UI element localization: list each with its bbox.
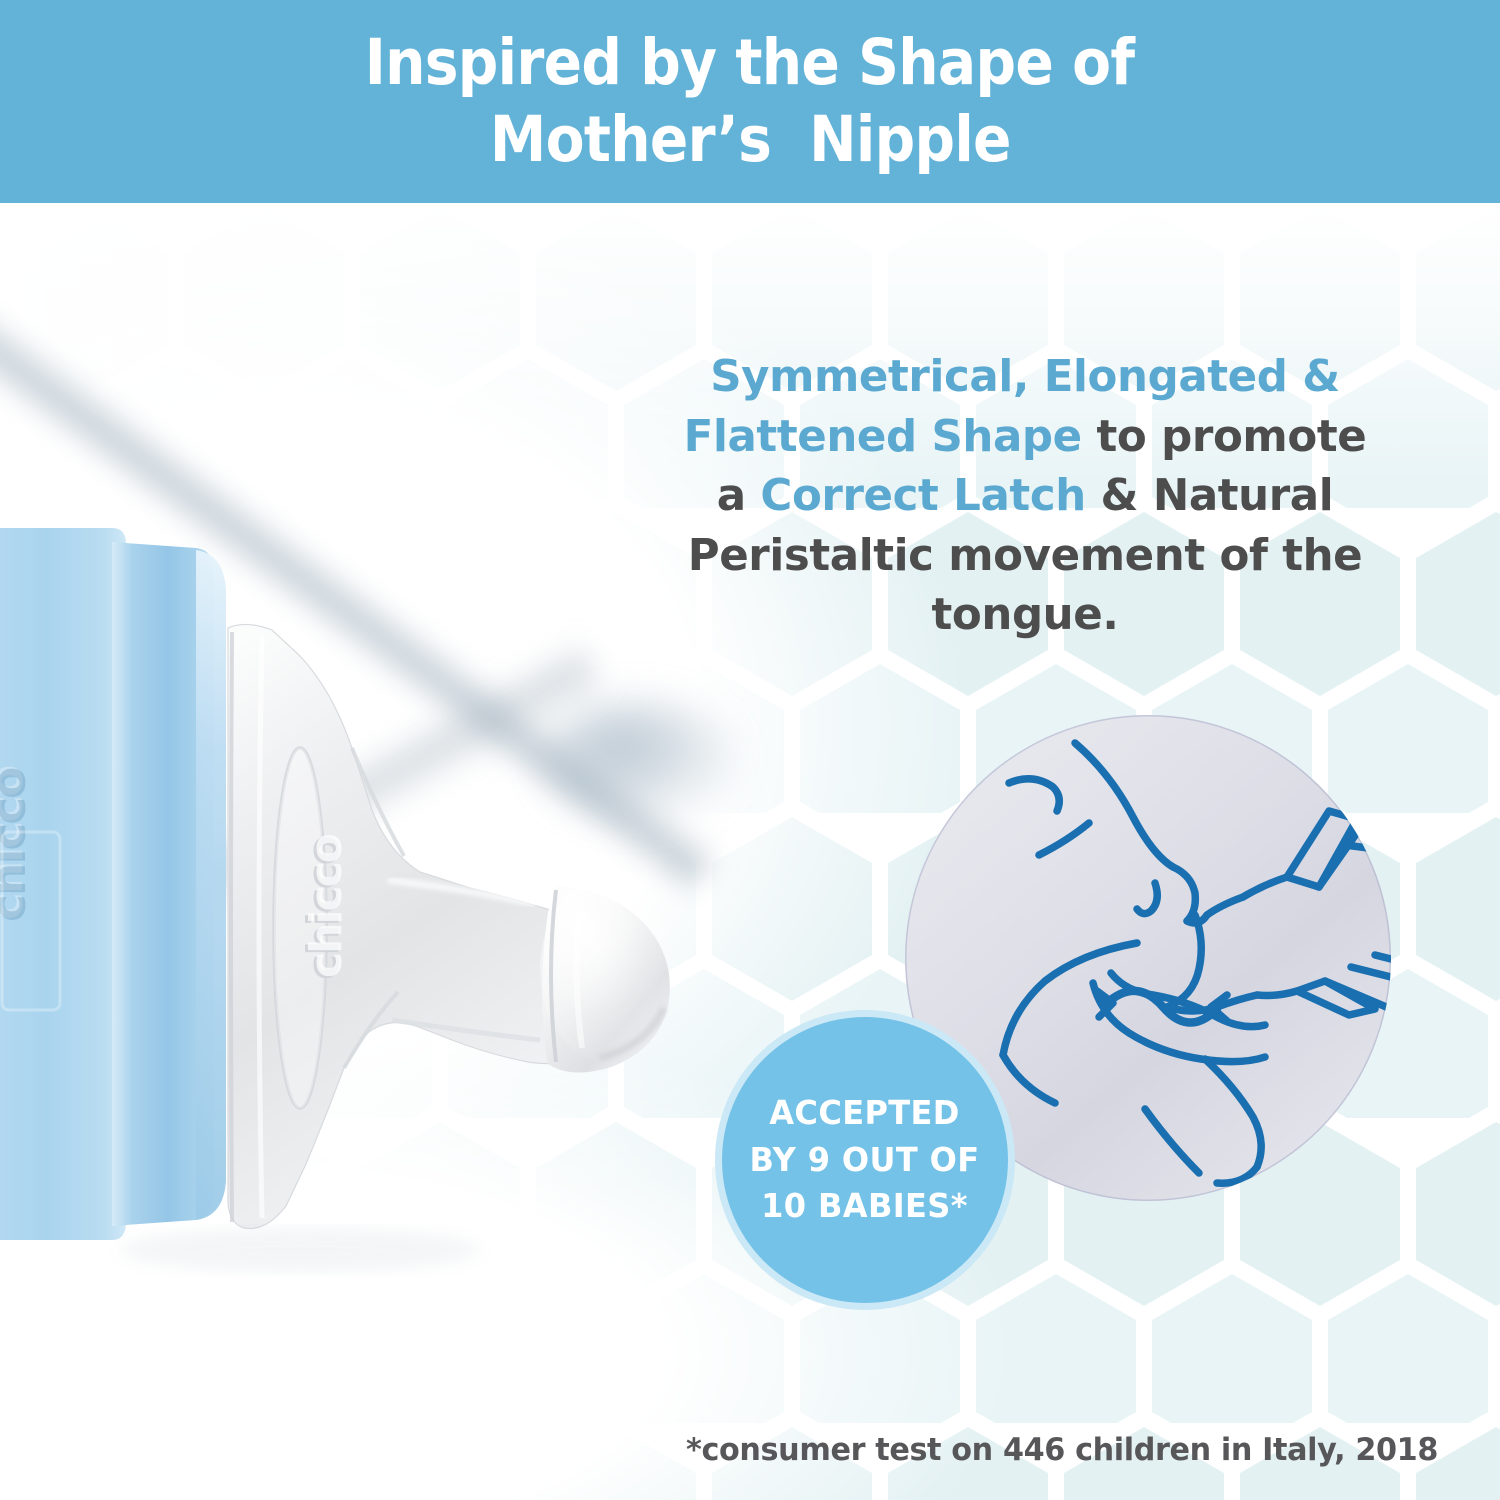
copy-line-3-plain-b: & Natural	[1086, 471, 1333, 521]
copy-line-3-plain-a: a	[717, 471, 761, 521]
svg-text:chicco: chicco	[301, 834, 352, 978]
copy-line-5: tongue.	[932, 590, 1119, 640]
accepted-by-babies-badge: ACCEPTED BY 9 OUT OF 10 BABIES*	[715, 1010, 1015, 1310]
badge-text: ACCEPTED BY 9 OUT OF 10 BABIES*	[750, 1090, 980, 1231]
copy-line-2-plain: to promote	[1082, 412, 1367, 462]
svg-text:chicco: chicco	[0, 768, 37, 922]
copy-line-2-accent: Flattened Shape	[684, 412, 1082, 462]
product-feature-graphic: Inspired by the Shape of Mother’s Nipple	[0, 0, 1500, 1500]
header-title-line-1: Inspired by the Shape of	[365, 25, 1135, 102]
footnote-disclaimer: *consumer test on 446 children in Italy,…	[58, 1432, 1438, 1468]
copy-line-1: Symmetrical, Elongated &	[710, 352, 1340, 402]
copy-line-4: Peristaltic movement of the	[688, 531, 1363, 581]
header-banner: Inspired by the Shape of Mother’s Nipple	[0, 0, 1500, 203]
copy-line-3-accent: Correct Latch	[760, 471, 1085, 521]
feature-description: Symmetrical, Elongated & Flattened Shape…	[640, 348, 1410, 646]
product-photo-bottle-and-nipple: chicco chicco chicco chicco	[0, 480, 720, 1300]
header-title-line-2: Mother’s Nipple	[490, 102, 1011, 179]
